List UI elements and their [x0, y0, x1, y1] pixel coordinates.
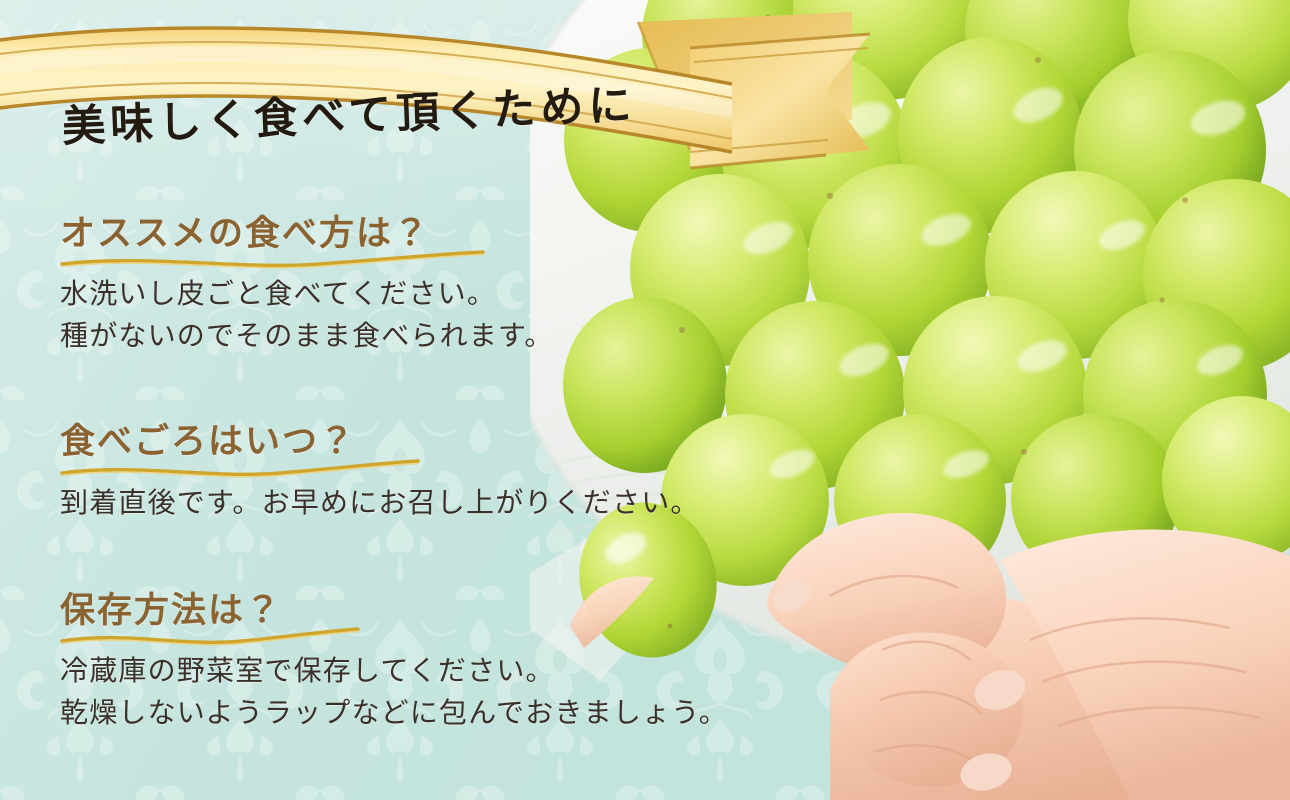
- qa-block-storage: 保存方法は？ 冷蔵庫の野菜室で保存してください。 乾燥しないようラップなどに包ん…: [60, 591, 760, 735]
- qa-body-line: 種がないのでそのまま食べられます。: [60, 316, 760, 358]
- qa-heading-best-time: 食べごろはいつ？: [60, 422, 760, 462]
- promo-banner-page: 美味しく食べて頂くために オススメの食べ方は？ 水洗いし皮ごと食べてください。 …: [0, 0, 1290, 800]
- qa-body-line: 乾燥しないようラップなどに包んでおきましょう。: [60, 693, 760, 735]
- qa-body-best-time: 到着直後です。お早めにお召し上がりください。: [60, 483, 760, 525]
- qa-body-line: 到着直後です。お早めにお召し上がりください。: [60, 483, 760, 525]
- qa-body-line: 水洗いし皮ごと食べてください。: [60, 274, 760, 316]
- qa-heading-storage: 保存方法は？: [60, 591, 760, 631]
- qa-block-best-time: 食べごろはいつ？ 到着直後です。お早めにお召し上がりください。: [60, 422, 760, 524]
- ribbon-banner: 美味しく食べて頂くために: [0, 0, 870, 200]
- qa-body-recommended-way: 水洗いし皮ごと食べてください。 種がないのでそのまま食べられます。: [60, 274, 760, 358]
- qa-body-storage: 冷蔵庫の野菜室で保存してください。 乾燥しないようラップなどに包んでおきましょう…: [60, 651, 760, 735]
- qa-heading-recommended-way: オススメの食べ方は？: [60, 214, 760, 254]
- qa-body-line: 冷蔵庫の野菜室で保存してください。: [60, 651, 760, 693]
- qa-block-recommended-way: オススメの食べ方は？ 水洗いし皮ごと食べてください。 種がないのでそのまま食べら…: [60, 214, 760, 358]
- instructions-content: オススメの食べ方は？ 水洗いし皮ごと食べてください。 種がないのでそのまま食べら…: [60, 214, 760, 735]
